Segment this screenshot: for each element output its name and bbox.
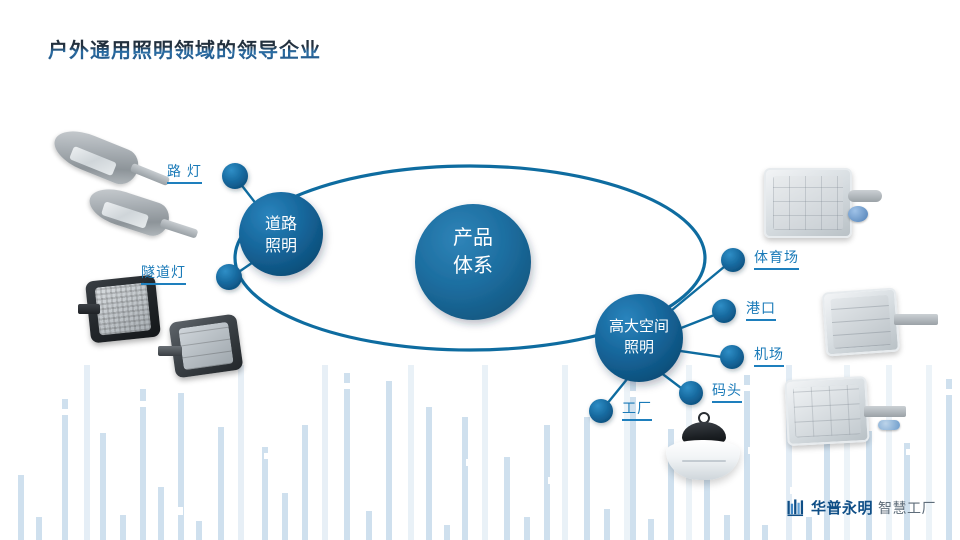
page-title: 户外通用照明领域的领导企业 xyxy=(48,34,321,63)
logo-suffix-text: 智慧工厂 xyxy=(878,498,936,518)
node-high-bay-line1: 高大空间 xyxy=(609,318,669,335)
node-product-system-line2: 体系 xyxy=(453,254,493,277)
label-wharf[interactable]: 码头 xyxy=(712,381,742,403)
highbay-lamp-photo xyxy=(660,412,746,486)
blue-knob-icon xyxy=(848,206,868,222)
slide-canvas: 户外通用照明领域的领导企业 户外通用照明领域的领导企业 xyxy=(0,0,960,540)
node-road-lighting-circle xyxy=(239,192,323,276)
huapu-logo-mark-icon xyxy=(787,498,806,517)
node-product-system-circle xyxy=(415,204,531,320)
connector-tunnel-lamp xyxy=(230,256,262,278)
connector-stadium xyxy=(672,262,730,310)
connector-street-lamp xyxy=(236,178,264,214)
blue-knob-icon-2 xyxy=(878,420,900,430)
node-product-system-line1: 产品 xyxy=(453,226,493,249)
node-road-lighting-line1: 道路 xyxy=(265,215,297,233)
label-street-lamp[interactable]: 路 灯 xyxy=(167,162,202,184)
bullet-port xyxy=(712,299,736,323)
label-stadium[interactable]: 体育场 xyxy=(754,248,799,270)
brand-logo: 华普永明 智慧工厂 xyxy=(787,497,936,518)
orbit-ellipse xyxy=(235,166,705,350)
tunnel-lamp-photo-2 xyxy=(158,318,240,380)
bullet-tunnel-lamp xyxy=(216,264,242,290)
connector-airport xyxy=(674,350,729,358)
node-high-bay-line2: 照明 xyxy=(624,339,654,356)
label-port[interactable]: 港口 xyxy=(746,299,776,321)
airport-floodlight-photo xyxy=(786,378,910,452)
bullet-stadium xyxy=(721,248,745,272)
logo-brand-text: 华普永明 xyxy=(811,497,873,518)
label-tunnel-lamp[interactable]: 隧道灯 xyxy=(141,263,186,285)
connector-port xyxy=(676,312,722,330)
bullet-street-lamp xyxy=(222,163,248,189)
label-factory[interactable]: 工厂 xyxy=(622,399,652,421)
port-floodlight-photo xyxy=(824,290,940,362)
node-road-lighting-line2: 照明 xyxy=(265,237,297,255)
street-lamp-photo-2 xyxy=(88,190,198,244)
stadium-floodlight-photo xyxy=(764,168,884,244)
street-lamp-photo-1 xyxy=(52,132,170,184)
tunnel-lamp-photo-1 xyxy=(78,278,158,342)
label-airport[interactable]: 机场 xyxy=(754,345,784,367)
